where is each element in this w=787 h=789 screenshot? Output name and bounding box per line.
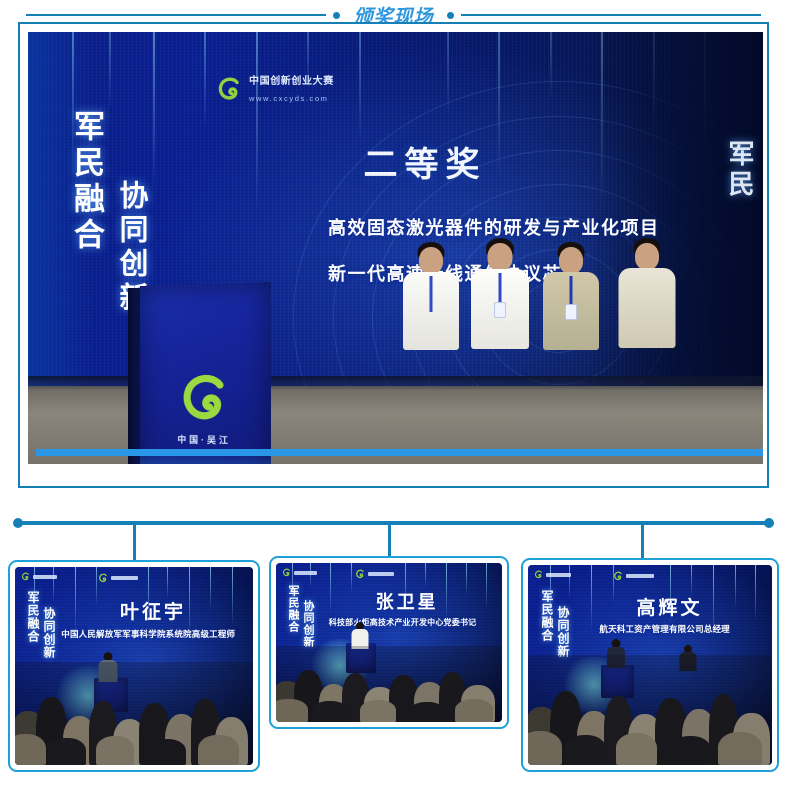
contest-name: 中国创新创业大赛 <box>249 76 334 87</box>
thumb-slogan-2: 协同创新 <box>300 600 316 648</box>
thumbnail-card-3[interactable]: 军民融合 协同创新 高辉文 航天科工资产管理有限公司总经理 <box>521 558 779 772</box>
thumb-contest-logo-icon <box>355 569 394 579</box>
award-ceremony-page: 颁奖现场 <box>0 0 787 789</box>
person-head <box>419 247 443 274</box>
person-legs <box>547 348 595 424</box>
stage-person-4 <box>616 238 678 424</box>
photo-accent-bar <box>36 449 763 456</box>
thumb-slogan-1: 军民融合 <box>25 591 42 643</box>
podium-city-label: 中国·吴江 <box>177 433 231 447</box>
contest-url: www.cxcyds.com <box>249 94 329 103</box>
header-rule-right <box>461 14 761 16</box>
thumb-speaker-title-3: 航天科工资产管理有限公司总经理 <box>599 623 730 635</box>
thumb-speaker-title-1: 中国人民解放军军事科学院系统院高级工程师 <box>61 628 235 640</box>
person-legs <box>407 348 455 424</box>
connector-drop-1 <box>133 525 136 561</box>
thumb-venue-logo-icon <box>21 572 57 581</box>
slogan-right-partial: 军民 <box>722 140 759 200</box>
thumbnail-card-1[interactable]: 军民融合 协同创新 叶征宇 中国人民解放军军事科学院系统院高级工程师 <box>8 560 260 772</box>
thumb-venue-logo-icon <box>282 568 317 577</box>
person-award-card <box>494 302 506 318</box>
main-photo-frame: 中国创新创业大赛 www.cxcyds.com 军民融合 协同创新 军民 二等奖… <box>18 22 769 488</box>
podium: 中国·吴江 <box>138 284 270 464</box>
contest-logo-text: 中国创新创业大赛 www.cxcyds.com <box>249 72 334 106</box>
connector-drop-2 <box>388 525 391 556</box>
thumb-audience <box>528 655 772 765</box>
thumb-speaker-name-1: 叶征宇 <box>120 597 186 624</box>
thumb-slogan-2: 协同创新 <box>41 607 58 659</box>
person-award-card <box>565 304 577 320</box>
thumbnail-photo-3: 军民融合 协同创新 高辉文 航天科工资产管理有限公司总经理 <box>528 565 772 765</box>
thumb-speaker-name-3: 高辉文 <box>637 593 703 620</box>
cxcyds-c-logo-icon <box>216 76 242 102</box>
thumb-contest-logo-icon <box>613 571 654 581</box>
thumb-speaker-name-2: 张卫星 <box>376 588 439 614</box>
header-rule-left <box>26 14 326 16</box>
header-dot-left <box>333 12 340 19</box>
person-legs <box>623 346 671 424</box>
stage-person-1 <box>400 242 462 424</box>
award-title: 二等奖 <box>364 137 487 186</box>
main-photo: 中国创新创业大赛 www.cxcyds.com 军民融合 协同创新 军民 二等奖… <box>28 32 763 464</box>
person-head <box>559 247 583 274</box>
thumbnail-photo-1: 军民融合 协同创新 叶征宇 中国人民解放军军事科学院系统院高级工程师 <box>15 567 253 765</box>
person-lanyard <box>430 276 433 312</box>
thumb-venue-logo-icon <box>534 570 571 579</box>
person-head <box>635 243 659 270</box>
connector-drop-3 <box>641 525 644 558</box>
contest-logo: 中国创新创业大赛 www.cxcyds.com <box>216 72 334 106</box>
person-body <box>619 268 676 348</box>
thumb-slogan-2: 协同创新 <box>555 606 572 658</box>
stage-person-3 <box>540 242 602 424</box>
rail-dot-left <box>13 518 23 528</box>
thumbnail-card-2[interactable]: 军民融合 协同创新 张卫星 科技部火炬高技术产业开发中心党委书记 <box>269 556 509 729</box>
thumb-audience <box>276 646 502 722</box>
thumbnail-photo-2: 军民融合 协同创新 张卫星 科技部火炬高技术产业开发中心党委书记 <box>276 563 502 722</box>
thumb-slogan-1: 军民融合 <box>539 590 556 642</box>
header-dot-right <box>447 12 454 19</box>
thumb-slogan-1: 军民融合 <box>285 585 301 633</box>
slogan-junmin-ronghe: 军民融合 <box>64 110 109 254</box>
podium-c-logo-icon <box>178 372 230 429</box>
podium-face: 中国·吴江 <box>140 282 271 464</box>
project-line-1: 高效固态激光器件的研发与产业化项目 <box>328 214 660 240</box>
thumb-audience <box>15 662 253 765</box>
person-legs <box>475 347 525 424</box>
thumb-contest-logo-icon <box>98 573 138 583</box>
connector-rail <box>18 521 769 525</box>
rail-dot-right <box>764 518 774 528</box>
stage-person-2 <box>468 238 532 424</box>
person-head <box>488 243 513 271</box>
